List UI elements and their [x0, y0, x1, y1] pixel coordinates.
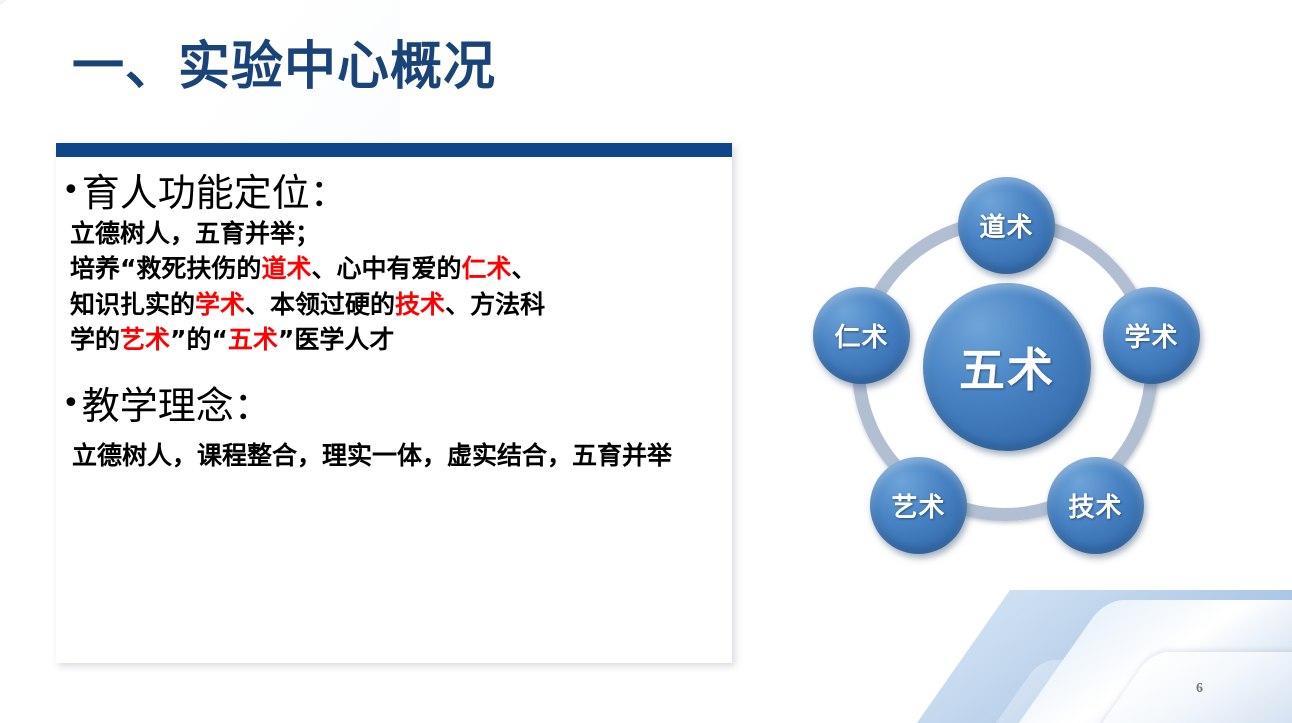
- diagram-node-center[interactable]: 五术: [923, 283, 1091, 451]
- diagram-node-bottom-left[interactable]: 艺术: [870, 457, 967, 554]
- slide-title: 一、实验中心概况: [72, 24, 496, 99]
- bullet-icon-2: •: [62, 386, 82, 421]
- section-2-spacer: [62, 429, 722, 439]
- section-2-heading-text: 教学理念：: [82, 384, 272, 428]
- slide-canvas: 一、实验中心概况 •育人功能定位： 立德树人，五育并举； 培养“救死扶伤的道术、…: [0, 0, 1292, 723]
- diagram-node-right[interactable]: 学术: [1103, 287, 1200, 384]
- line4-part-4: ”医学人才: [278, 325, 394, 354]
- line4-part-1-highlight: 艺术: [120, 325, 170, 354]
- section-spacer: [62, 358, 722, 384]
- line2-part-2: 、心中有爱的: [311, 254, 461, 283]
- section-2-body: 立德树人，课程整合，理实一体，虚实结合，五育并举: [62, 439, 722, 473]
- line2-part-4: 、: [511, 254, 536, 283]
- line3-part-3-highlight: 技术: [395, 290, 445, 319]
- section-1-heading-text: 育人功能定位：: [82, 171, 348, 215]
- line2-part-3-highlight: 仁术: [461, 254, 511, 283]
- section-1-line-4: 学的艺术”的“五术”医学人才: [62, 322, 722, 358]
- card-accent-bar: [56, 143, 732, 157]
- line3-part-0: 知识扎实的: [70, 290, 195, 319]
- five-arts-diagram: 五术 道术 学术 技术 艺术 仁术: [795, 165, 1225, 595]
- line4-part-0: 学的: [70, 325, 120, 354]
- section-1-heading: •育人功能定位：: [62, 171, 722, 216]
- diagram-node-bottom-right[interactable]: 技术: [1047, 457, 1144, 554]
- diagram-node-left[interactable]: 仁术: [813, 287, 910, 384]
- diagram-node-top[interactable]: 道术: [958, 177, 1055, 274]
- bullet-icon-1: •: [62, 173, 82, 208]
- section-1-line-3: 知识扎实的学术、本领过硬的技术、方法科: [62, 287, 722, 323]
- line2-part-1-highlight: 道术: [261, 254, 311, 283]
- section-1-line-1: 立德树人，五育并举；: [62, 216, 722, 252]
- line3-part-4: 、方法科: [445, 290, 545, 319]
- line3-part-2: 、本领过硬的: [245, 290, 395, 319]
- page-number: 6: [1196, 681, 1203, 697]
- card-body: •育人功能定位： 立德树人，五育并举； 培养“救死扶伤的道术、心中有爱的仁术、 …: [56, 157, 732, 472]
- line2-part-0: 培养“救死扶伤的: [70, 254, 261, 283]
- section-2-heading: •教学理念：: [62, 384, 722, 429]
- content-card: •育人功能定位： 立德树人，五育并举； 培养“救死扶伤的道术、心中有爱的仁术、 …: [56, 143, 732, 663]
- line4-part-2: ”的“: [170, 325, 228, 354]
- line4-part-3-highlight: 五术: [228, 325, 278, 354]
- section-1-line-2: 培养“救死扶伤的道术、心中有爱的仁术、: [62, 251, 722, 287]
- line3-part-1-highlight: 学术: [195, 290, 245, 319]
